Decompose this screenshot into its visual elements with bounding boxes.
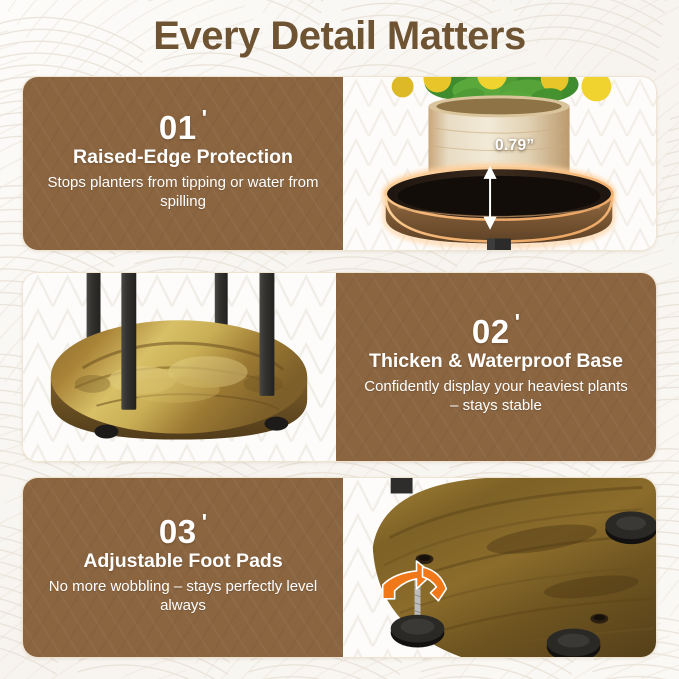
panel-01-number: 01: [159, 111, 197, 144]
panel-03-number-row: 03 ': [159, 515, 207, 548]
feature-panel-02: 02 ' Thicken & Waterproof Base Confident…: [22, 272, 657, 462]
panel-02-number: 02: [472, 315, 510, 348]
page-title-wrap: Every Detail Matters: [0, 14, 679, 58]
panel-02-subtext: Confidently display your heaviest plants…: [359, 378, 634, 416]
panel-02-image: [23, 273, 336, 461]
feature-panel-01: 01 ' Raised-Edge Protection Stops plante…: [22, 76, 657, 251]
panel-01-text-area: 01 ' Raised-Edge Protection Stops plante…: [23, 77, 343, 250]
panel-03-subtext: No more wobbling – stays perfectly level…: [46, 578, 321, 616]
panel-02-headline: Thicken & Waterproof Base: [369, 350, 623, 373]
panel-03-headline: Adjustable Foot Pads: [83, 550, 282, 573]
panel-01-tick-mark: ': [202, 107, 207, 130]
panel-03-number: 03: [159, 515, 197, 548]
panel-02-text-area: 02 ' Thicken & Waterproof Base Confident…: [336, 273, 656, 461]
infographic-page: Every Detail Matters 01 ' Raised-Edge Pr…: [0, 0, 679, 679]
panel-01-headline: Raised-Edge Protection: [73, 146, 293, 169]
dimension-callout-label: 0.79”: [495, 137, 534, 155]
panel-02-number-row: 02 ': [472, 315, 520, 348]
panel-02-tick-mark: ': [515, 311, 520, 334]
panel-03-image: [343, 478, 656, 657]
panel-01-image: 0.79”: [343, 77, 656, 250]
feature-panel-03: 03 ' Adjustable Foot Pads No more wobbli…: [22, 477, 657, 658]
panel-03-text-area: 03 ' Adjustable Foot Pads No more wobbli…: [23, 478, 343, 657]
panel-03-tick-mark: ': [202, 511, 207, 534]
panel-01-subtext: Stops planters from tipping or water fro…: [46, 174, 321, 212]
page-title: Every Detail Matters: [0, 14, 679, 58]
panel-01-number-row: 01 ': [159, 111, 207, 144]
